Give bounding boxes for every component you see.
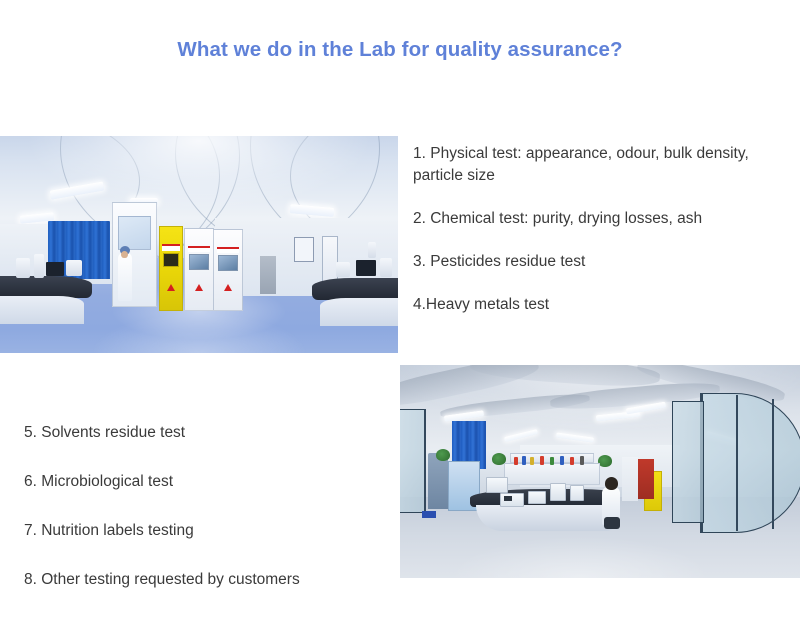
lab-technician (118, 253, 132, 301)
list-item: 5. Solvents residue test (24, 422, 399, 444)
list-item: 2. Chemical test: purity, drying losses,… (413, 208, 800, 230)
workbench-cabinets (476, 505, 616, 531)
slide-root: What we do in the Lab for quality assura… (0, 0, 800, 636)
lab-bench (312, 278, 398, 300)
reagent-bottle (530, 457, 534, 465)
reagent-bottle (570, 457, 574, 465)
lab-photo-one (0, 136, 398, 353)
lab-instrument (570, 485, 584, 501)
test-list-lower: 5. Solvents residue test 6. Microbiologi… (24, 422, 399, 591)
test-list-upper: 1. Physical test: appearance, odour, bul… (413, 143, 800, 316)
reagent-bottle (514, 457, 518, 465)
flammable-cabinet (159, 226, 183, 311)
list-item: 8. Other testing requested by customers (24, 569, 399, 591)
list-item: 1. Physical test: appearance, odour, bul… (413, 143, 800, 187)
computer-monitor (46, 262, 64, 276)
lab-photo-two (400, 365, 800, 578)
reagent-bottle (560, 456, 564, 465)
hazard-triangle-icon (224, 284, 232, 291)
laboratory-freezer (428, 453, 448, 509)
reagent-bottle (540, 456, 544, 465)
lab-instrument (16, 258, 30, 278)
lab-stool (604, 517, 620, 529)
potted-plant (436, 449, 450, 461)
hazard-triangle-icon (195, 284, 203, 291)
computer-monitor (356, 260, 376, 276)
potted-plant (598, 455, 612, 467)
lab-instrument (550, 483, 566, 501)
glass-mullion (772, 399, 774, 529)
lab-door (322, 236, 338, 284)
cabinet-window (218, 255, 238, 271)
glass-partition (400, 409, 426, 513)
lab-bench (0, 276, 92, 298)
technician-head (605, 477, 618, 490)
lab-instrument (368, 242, 376, 258)
corridor-wall (622, 457, 638, 501)
warning-label (188, 246, 210, 252)
lab-instrument (66, 260, 82, 276)
cabinet-window (189, 254, 209, 270)
cabinet-window (163, 253, 179, 267)
lab-instrument (380, 258, 392, 277)
storage-cabinet (260, 256, 276, 294)
hazard-triangle-icon (167, 284, 175, 291)
glass-door (672, 401, 704, 523)
fume-hood-sash (118, 216, 151, 250)
list-item: 3. Pesticides residue test (413, 251, 800, 273)
lab-instrument (34, 254, 44, 278)
list-item: 4.Heavy metals test (413, 294, 800, 316)
warning-label (217, 247, 239, 253)
reagent-bottle (522, 456, 526, 465)
list-item: 7. Nutrition labels testing (24, 520, 399, 542)
wall-notice-board (294, 237, 314, 262)
lab-instrument (336, 262, 350, 277)
glass-mullion (424, 409, 426, 513)
page-title: What we do in the Lab for quality assura… (0, 38, 800, 62)
reagent-bottle (550, 457, 554, 465)
lab-instrument (486, 477, 508, 493)
lab-instrument (528, 491, 546, 504)
red-door (636, 459, 654, 499)
technician-face (121, 251, 128, 258)
warning-label (162, 244, 180, 251)
instrument-display (504, 496, 512, 501)
list-item: 6. Microbiological test (24, 471, 399, 493)
floor-box (422, 511, 436, 518)
glass-mullion (736, 395, 738, 531)
reagent-shelf (504, 463, 600, 485)
lab-bench-base (320, 298, 398, 326)
lab-bench-base (0, 296, 84, 324)
reagent-bottle (580, 456, 584, 465)
